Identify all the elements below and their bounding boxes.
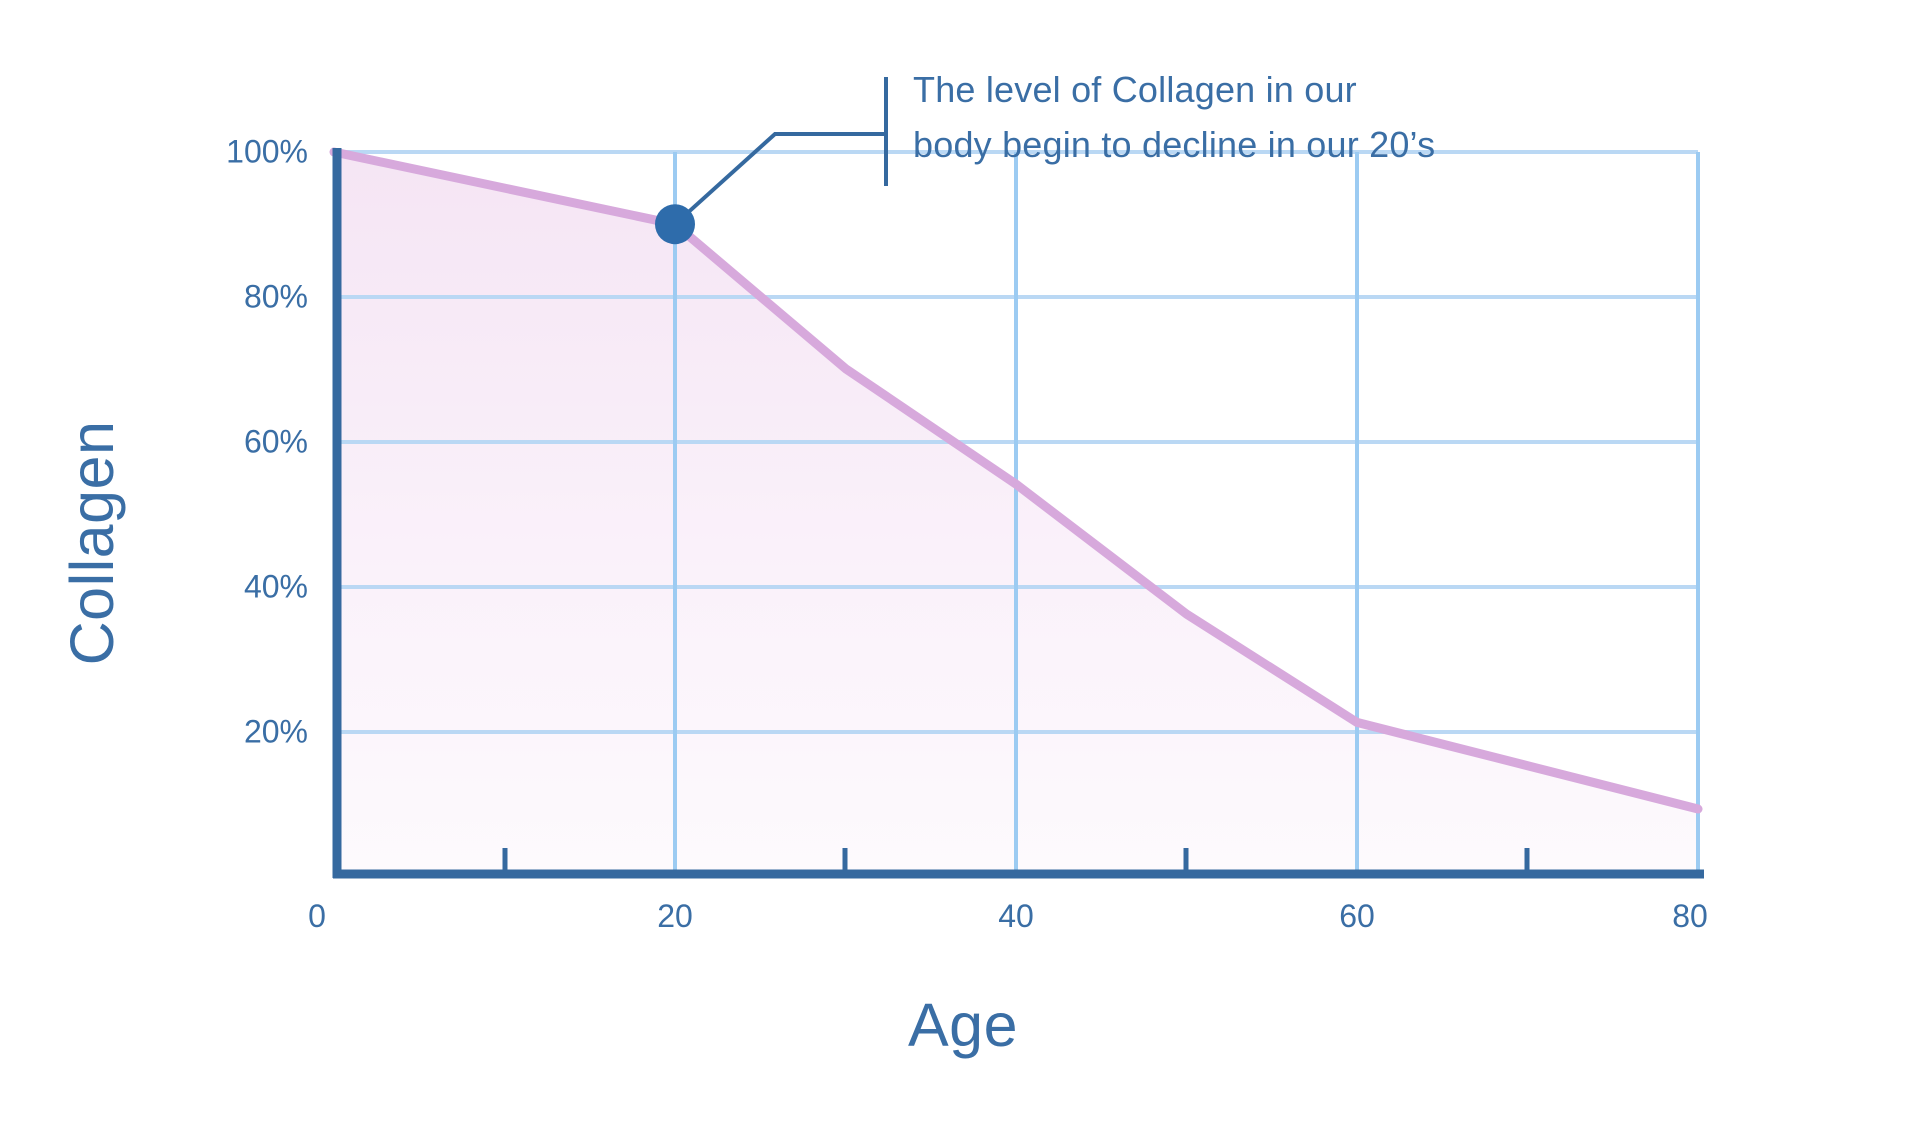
annotation-callout: The level of Collagen in our body begin …: [913, 62, 1613, 172]
y-tick-label-40: 40%: [244, 569, 308, 606]
x-axis-title: Age: [0, 990, 1926, 1060]
y-axis-title: Collagen: [57, 333, 127, 753]
annotation-line-1: The level of Collagen in our: [913, 62, 1613, 117]
x-tick-label-60: 60: [1339, 898, 1375, 935]
x-tick-label-40: 40: [998, 898, 1034, 935]
x-tick-label-20: 20: [657, 898, 693, 935]
annotation-line-2: body begin to decline in our 20’s: [913, 117, 1613, 172]
y-tick-label-100: 100%: [226, 134, 308, 171]
data-point-marker-age-20[interactable]: [655, 204, 695, 244]
y-tick-label-60: 60%: [244, 424, 308, 461]
y-tick-label-80: 80%: [244, 279, 308, 316]
x-tick-label-80: 80: [1672, 898, 1708, 935]
x-tick-label-0: 0: [308, 898, 326, 935]
leader-elbow: [675, 134, 885, 224]
y-tick-label-20: 20%: [244, 714, 308, 751]
chart-canvas: Collagen Age 100% 80% 60% 40% 20% 0 20 4…: [0, 0, 1926, 1128]
